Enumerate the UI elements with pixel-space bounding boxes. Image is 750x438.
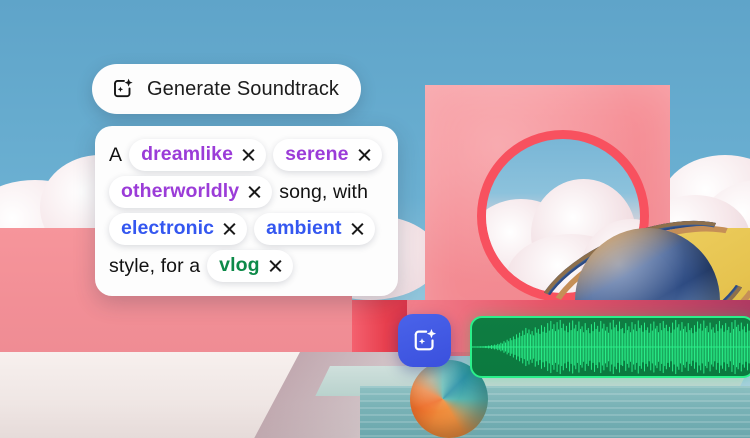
prompt-tag-label: otherworldly	[121, 180, 239, 203]
prompt-line: Adreamlikeserene	[109, 139, 384, 171]
generate-soundtrack-label: Generate Soundtrack	[147, 78, 339, 101]
prompt-tag-label: electronic	[121, 217, 214, 240]
prompt-static-text: style, for a	[109, 255, 200, 278]
prompt-tag-label: vlog	[219, 254, 260, 277]
prompt-line: otherworldlysong, with	[109, 176, 384, 208]
remove-tag-icon[interactable]	[222, 222, 236, 236]
sparkle-frame-icon	[410, 326, 440, 356]
remove-tag-icon[interactable]	[268, 259, 282, 273]
prompt-static-text: song, with	[279, 181, 368, 204]
audio-waveform	[472, 318, 750, 376]
remove-tag-icon[interactable]	[357, 148, 371, 162]
prompt-tag-chip[interactable]: vlog	[207, 250, 293, 282]
generate-audio-fab-button[interactable]	[398, 314, 451, 367]
prompt-editor-card[interactable]: Adreamlikeserene otherworldlysong, with …	[95, 126, 398, 296]
prompt-tag-label: serene	[285, 143, 348, 166]
prompt-tag-chip[interactable]: serene	[273, 139, 381, 171]
remove-tag-icon[interactable]	[247, 185, 261, 199]
prompt-tag-chip[interactable]: otherworldly	[109, 176, 272, 208]
audio-waveform-panel[interactable]	[470, 316, 750, 378]
prompt-line: style, for avlog	[109, 250, 384, 282]
prompt-line: electronicambient	[109, 213, 384, 245]
prompt-static-text: A	[109, 144, 122, 167]
prompt-tag-label: ambient	[266, 217, 341, 240]
prompt-tag-chip[interactable]: ambient	[254, 213, 374, 245]
prompt-tag-chip[interactable]: dreamlike	[129, 139, 266, 171]
pink-wall-lower	[0, 300, 352, 356]
remove-tag-icon[interactable]	[241, 148, 255, 162]
scene: Generate Soundtrack Adreamlikeserene oth…	[0, 0, 750, 438]
prompt-tag-chip[interactable]: electronic	[109, 213, 247, 245]
generate-soundtrack-button[interactable]: Generate Soundtrack	[92, 64, 361, 114]
prompt-tag-label: dreamlike	[141, 143, 233, 166]
sparkle-frame-icon	[110, 76, 136, 102]
remove-tag-icon[interactable]	[350, 222, 364, 236]
